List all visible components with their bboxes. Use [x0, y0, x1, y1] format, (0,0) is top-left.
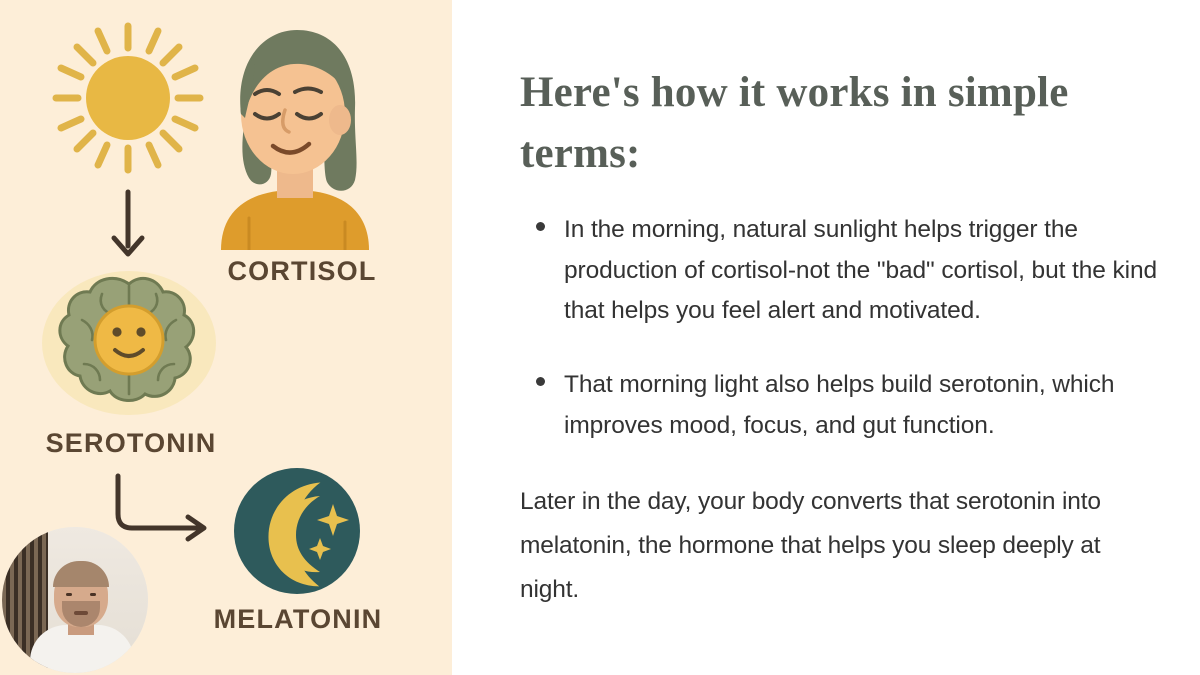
list-item-text: In the morning, natural sunlight helps t… — [564, 216, 1157, 324]
webcam-person-eye-left — [66, 593, 72, 596]
list-item: That morning light also helps build sero… — [534, 365, 1160, 446]
sun-icon — [48, 18, 208, 178]
page-title: Here's how it works in simple terms: — [520, 62, 1130, 184]
bullet-dot-icon — [536, 222, 545, 231]
serotonin-label: SEROTONIN — [0, 428, 262, 459]
list-item: In the morning, natural sunlight helps t… — [534, 210, 1160, 331]
cortisol-label: CORTISOL — [192, 256, 412, 287]
closing-paragraph: Later in the day, your body converts tha… — [520, 480, 1160, 612]
bullet-dot-icon — [536, 377, 545, 386]
slide: SEROTONIN — [0, 0, 1200, 675]
webcam-person-mouth — [74, 611, 88, 615]
webcam-avatar[interactable] — [2, 527, 148, 673]
down-arrow-icon — [100, 188, 156, 260]
list-item-text: That morning light also helps build sero… — [564, 371, 1114, 438]
left-illustration-panel: SEROTONIN — [0, 0, 452, 675]
webcam-person-eye-right — [90, 593, 96, 596]
woman-icon — [205, 22, 385, 250]
brain-icon — [40, 268, 218, 418]
melatonin-label: MELATONIN — [182, 604, 414, 635]
right-content-panel: Here's how it works in simple terms: In … — [452, 0, 1200, 675]
bullet-list: In the morning, natural sunlight helps t… — [534, 210, 1160, 446]
moon-icon — [232, 466, 362, 596]
